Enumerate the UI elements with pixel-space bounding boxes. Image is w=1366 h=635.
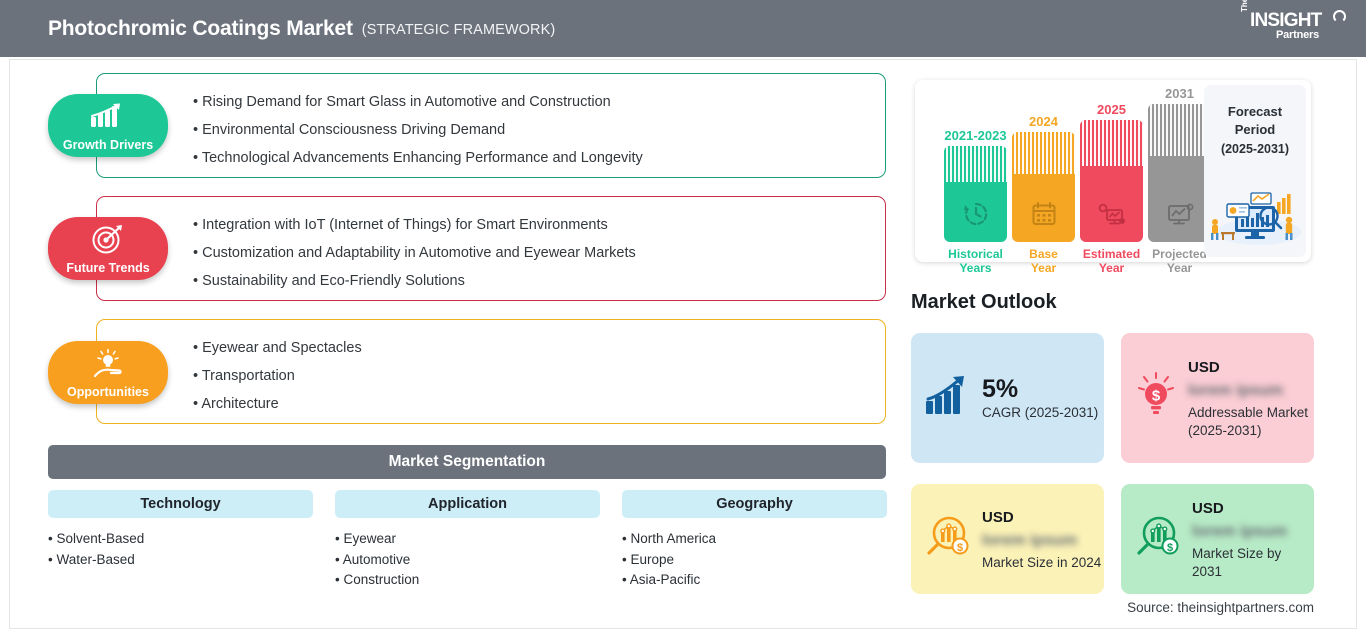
analytics-illustration [1207,188,1303,251]
growth-drivers-card: Rising Demand for Smart Glass in Automot… [96,73,886,178]
list-item: Asia-Pacific [622,570,887,591]
cagr-value: 5% [982,375,1104,403]
page-header: Photochromic Coatings Market (STRATEGIC … [0,0,1366,57]
list-item: Sustainability and Eco-Friendly Solution… [193,267,636,295]
lightbulb-dollar-icon: $ [1134,372,1178,425]
list-item: Eyewear and Spectacles [193,334,362,362]
list-item: Architecture [193,390,362,418]
bar-chart-growth-icon [89,102,127,133]
cagr-card: 5% CAGR (2025-2031) [911,333,1104,463]
list-item: Rising Demand for Smart Glass in Automot… [193,88,643,116]
page-title: Photochromic Coatings Market [48,17,353,41]
timeline-year: 2021-2023 [944,128,1007,143]
logo-the-text: The [1240,0,1249,12]
blurred-value: lorem ipsum [1192,521,1314,542]
timeline-bar-base: 2024 [1012,114,1075,275]
forecast-period-text: Forecast Period (2025-2031) [1204,85,1306,158]
market-size-2024-card: $ USD lorem ipsum Market Size in 2024 [911,484,1104,594]
usd-label: USD [1188,357,1314,378]
badge-label: Future Trends [66,261,149,275]
insight-partners-logo: The INSIGHT Partners [1240,9,1348,47]
forecast-period-panel: Forecast Period (2025-2031) [1204,85,1306,257]
cagr-caption: CAGR (2025-2031) [982,403,1104,422]
list-item: Integration with IoT (Internet of Things… [193,211,636,239]
list-item: Automotive [335,550,600,571]
list-item: Europe [622,550,887,571]
badge-label: Opportunities [67,385,149,399]
list-item: Environmental Consciousness Driving Dema… [193,116,643,144]
calendar-icon [1031,201,1057,232]
list-item: Transportation [193,362,362,390]
timeline-year: 2024 [1012,114,1075,129]
segment-title: Technology [48,490,313,518]
logo-circle-icon [1333,10,1346,23]
svg-text:$: $ [957,542,963,554]
bar-chart-arrow-icon [924,375,972,422]
segment-list: Eyewear Automotive Construction [335,529,600,591]
timeline-bar-estimated: 2025 Estimated [1080,102,1143,275]
logo-partners-text: Partners [1276,29,1319,41]
timeline-bars: 2021-2023 Historical Years 2 [929,80,1199,262]
list-item: North America [622,529,887,550]
list-item: Construction [335,570,600,591]
page-subtitle: (STRATEGIC FRAMEWORK) [362,22,556,38]
blurred-value: lorem ipsum [1188,380,1314,401]
timeline-caption: Projected Year [1148,247,1211,275]
timeline-caption: Estimated Year [1080,247,1143,275]
future-trends-list: Integration with IoT (Internet of Things… [193,211,636,295]
card-label: Market Size by 2031 [1192,545,1314,581]
future-trends-badge[interactable]: Future Trends [48,217,168,280]
timeline-caption: Historical Years [944,247,1007,275]
growth-drivers-list: Rising Demand for Smart Glass in Automot… [193,88,643,172]
market-segmentation-title: Market Segmentation [389,453,546,471]
segment-column-technology: Technology Solvent-Based Water-Based [48,490,313,570]
svg-text:$: $ [1152,387,1161,404]
source-text: Source: theinsightpartners.com [1127,600,1314,615]
list-item: Solvent-Based [48,529,313,550]
market-segmentation-header: Market Segmentation [48,445,886,479]
timeline-year: 2025 [1080,102,1143,117]
usd-label: USD [982,507,1104,528]
growth-drivers-badge[interactable]: Growth Drivers [48,94,168,157]
list-item: Technological Advancements Enhancing Per… [193,144,643,172]
segment-column-geography: Geography North America Europe Asia-Paci… [622,490,887,591]
market-size-2031-card: $ USD lorem ipsum Market Size by 2031 [1121,484,1314,594]
segment-list: Solvent-Based Water-Based [48,529,313,570]
target-dart-icon [91,225,125,260]
magnifier-chart-dollar-icon: $ [1134,514,1182,565]
opportunities-list: Eyewear and Spectacles Transportation Ar… [193,334,362,418]
opportunities-badge[interactable]: Opportunities [48,341,168,404]
segment-title: Application [335,490,600,518]
magnifier-chart-dollar-icon: $ [924,514,972,565]
list-item: Customization and Adaptability in Automo… [193,239,636,267]
segment-list: North America Europe Asia-Pacific [622,529,887,591]
list-item: Eyewear [335,529,600,550]
usd-label: USD [1192,498,1314,519]
card-label: Market Size in 2024 [982,554,1104,572]
timeline-caption: Base Year [1012,247,1075,275]
card-label: Addressable Market (2025-2031) [1188,404,1314,440]
market-outlook-title: Market Outlook [911,291,1057,314]
badge-label: Growth Drivers [63,138,153,152]
timeline-panel: 2021-2023 Historical Years 2 [915,80,1311,262]
addressable-market-card: $ USD lorem ipsum Addressable Market (20… [1121,333,1314,463]
analytics-gear-icon [1098,203,1126,232]
opportunities-card: Eyewear and Spectacles Transportation Ar… [96,319,886,424]
timeline-year: 2031 [1148,86,1211,101]
clock-history-icon [963,201,989,232]
list-item: Water-Based [48,550,313,571]
presentation-chart-icon [1166,203,1194,232]
lightbulb-hand-icon [90,349,126,384]
segment-title: Geography [622,490,887,518]
timeline-bar-historical: 2021-2023 Historical Years [944,128,1007,275]
svg-text:$: $ [1167,542,1173,554]
timeline-bar-projected: 2031 Projected Year [1148,86,1211,275]
future-trends-card: Integration with IoT (Internet of Things… [96,196,886,301]
segment-column-application: Application Eyewear Automotive Construct… [335,490,600,591]
infographic-page: Photochromic Coatings Market (STRATEGIC … [0,0,1366,635]
blurred-value: lorem ipsum [982,530,1104,551]
